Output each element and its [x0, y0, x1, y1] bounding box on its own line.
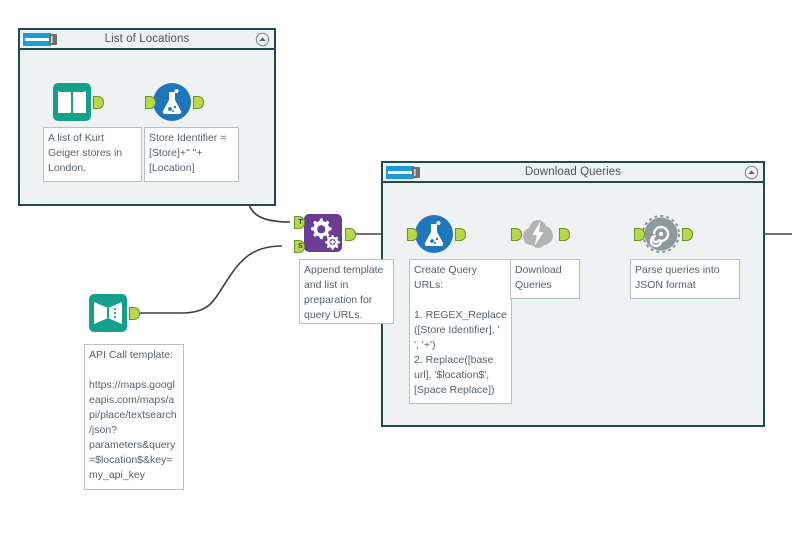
node-text-input-api-template[interactable]: [88, 293, 128, 333]
container-toggle-icon[interactable]: [23, 33, 59, 46]
anchor-in-formula-store-identifier[interactable]: [145, 96, 156, 109]
chevron-up-circle-icon[interactable]: [255, 32, 270, 47]
anchor-in-json-parse[interactable]: [634, 228, 645, 241]
annotation-parse-json: Parse queries into JSON format: [630, 259, 740, 299]
annotation-append-template: Append template and list in preparation …: [299, 259, 394, 324]
node-text-input-locations[interactable]: [52, 82, 92, 122]
annotation-api-template: API Call template: https://maps.googleap…: [84, 344, 184, 490]
append-fields-gears-icon: [303, 213, 343, 253]
text-input-book-icon: [52, 82, 92, 122]
container-header[interactable]: Download Queries: [383, 163, 763, 183]
anchor-out-text-input-locations[interactable]: [93, 96, 104, 109]
annotation-store-identifier: Store Identifier = [Store]+" "+[Location…: [144, 127, 239, 182]
node-formula-store-identifier[interactable]: [152, 82, 192, 122]
anchor-in-append-fields-source[interactable]: S: [294, 240, 305, 253]
container-title: List of Locations: [105, 33, 190, 45]
anchor-out-text-input-api-template[interactable]: [129, 307, 140, 320]
anchor-out-formula-create-query-urls[interactable]: [455, 228, 466, 241]
annotation-store-list: A list of Kurt Geiger stores in London.: [43, 127, 142, 182]
anchor-in-formula-create-query-urls[interactable]: [407, 228, 418, 241]
annotation-download-queries: Download Queries: [510, 259, 580, 299]
container-title: Download Queries: [525, 166, 621, 178]
anchor-out-formula-store-identifier[interactable]: [193, 96, 204, 109]
formula-flask-icon: [152, 82, 192, 122]
annotation-create-query-urls: Create Query URLs: 1. REGEX_Replace ([St…: [409, 259, 512, 404]
chevron-up-circle-icon[interactable]: [744, 165, 759, 180]
anchor-out-json-parse[interactable]: [682, 228, 693, 241]
node-append-fields[interactable]: [303, 213, 343, 253]
text-input-book-icon: [88, 293, 128, 333]
wire-apitemplate-to-append-s: [140, 246, 282, 313]
download-cloud-bolt-icon: [518, 214, 558, 254]
container-header[interactable]: List of Locations: [20, 30, 274, 50]
node-json-parse[interactable]: [641, 214, 681, 254]
anchor-in-download-tool[interactable]: [511, 228, 522, 241]
workflow-canvas[interactable]: List of Locations Download Queries: [0, 0, 792, 535]
anchor-in-append-fields-target[interactable]: T: [294, 216, 305, 229]
container-toggle-icon[interactable]: [386, 166, 422, 179]
anchor-out-download-tool[interactable]: [559, 228, 570, 241]
node-download-tool[interactable]: [518, 214, 558, 254]
formula-flask-icon: [414, 214, 454, 254]
json-parse-gear-icon: [641, 214, 681, 254]
node-formula-create-query-urls[interactable]: [414, 214, 454, 254]
anchor-out-append-fields[interactable]: [345, 228, 356, 241]
